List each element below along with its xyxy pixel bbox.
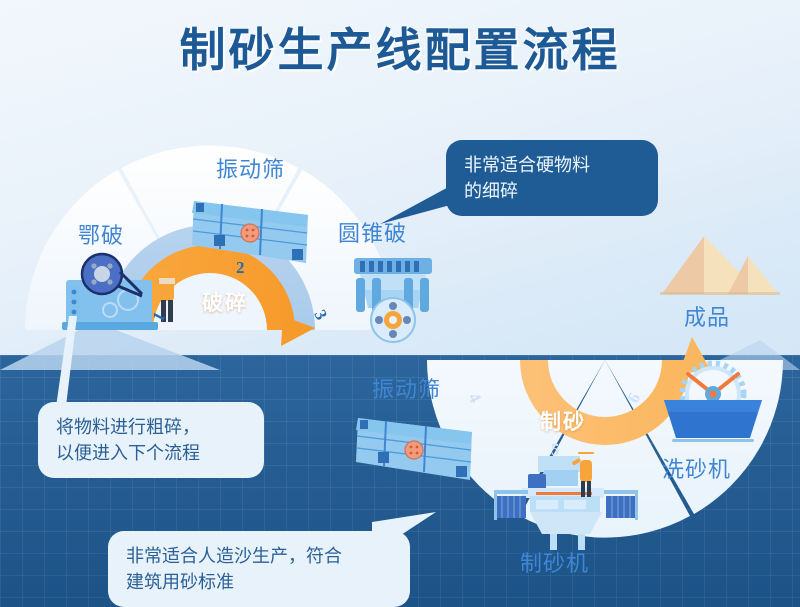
caption-sand-making-machine: 制砂机: [520, 546, 589, 578]
caption-vibrating-screen-upper: 振动筛: [216, 152, 285, 184]
caption-finished-product: 成品: [684, 300, 730, 332]
sand-pile-icon: [652, 228, 782, 308]
step-number-5: 5: [551, 440, 560, 460]
callout-cone-note: 非常适合硬物料 的细碎: [446, 140, 658, 216]
page-title: 制砂生产线配置流程: [0, 14, 800, 80]
crushing-arc-label: 破碎: [202, 287, 248, 317]
caption-vibrating-screen-lower: 振动筛: [372, 372, 441, 404]
cone-crusher-icon: [340, 250, 450, 350]
sand-making-machine-icon: [492, 452, 652, 552]
caption-jaw-crusher: 鄂破: [78, 218, 124, 250]
vibrating-screen-icon: [188, 183, 318, 278]
sand-making-arc-label: 制砂: [540, 406, 586, 436]
infographic-canvas: 制砂生产线配置流程: [0, 0, 800, 607]
step-number-2: 2: [236, 258, 245, 278]
callout-jaw-text: 将物料进行粗碎， 以便进入下个流程: [38, 402, 264, 478]
callout-cone-text: 非常适合硬物料 的细碎: [446, 140, 658, 216]
vibrating-screen-icon: [352, 400, 482, 495]
jaw-note-pointer: [55, 316, 95, 416]
caption-sand-washer: 洗砂机: [662, 452, 731, 484]
callout-sand-note: 非常适合人造沙生产，符合 建筑用砂标准: [108, 531, 410, 607]
callout-sand-text: 非常适合人造沙生产，符合 建筑用砂标准: [108, 531, 410, 607]
callout-jaw-note: 将物料进行粗碎， 以便进入下个流程: [38, 402, 264, 478]
sand-washer-icon: [658, 360, 768, 450]
